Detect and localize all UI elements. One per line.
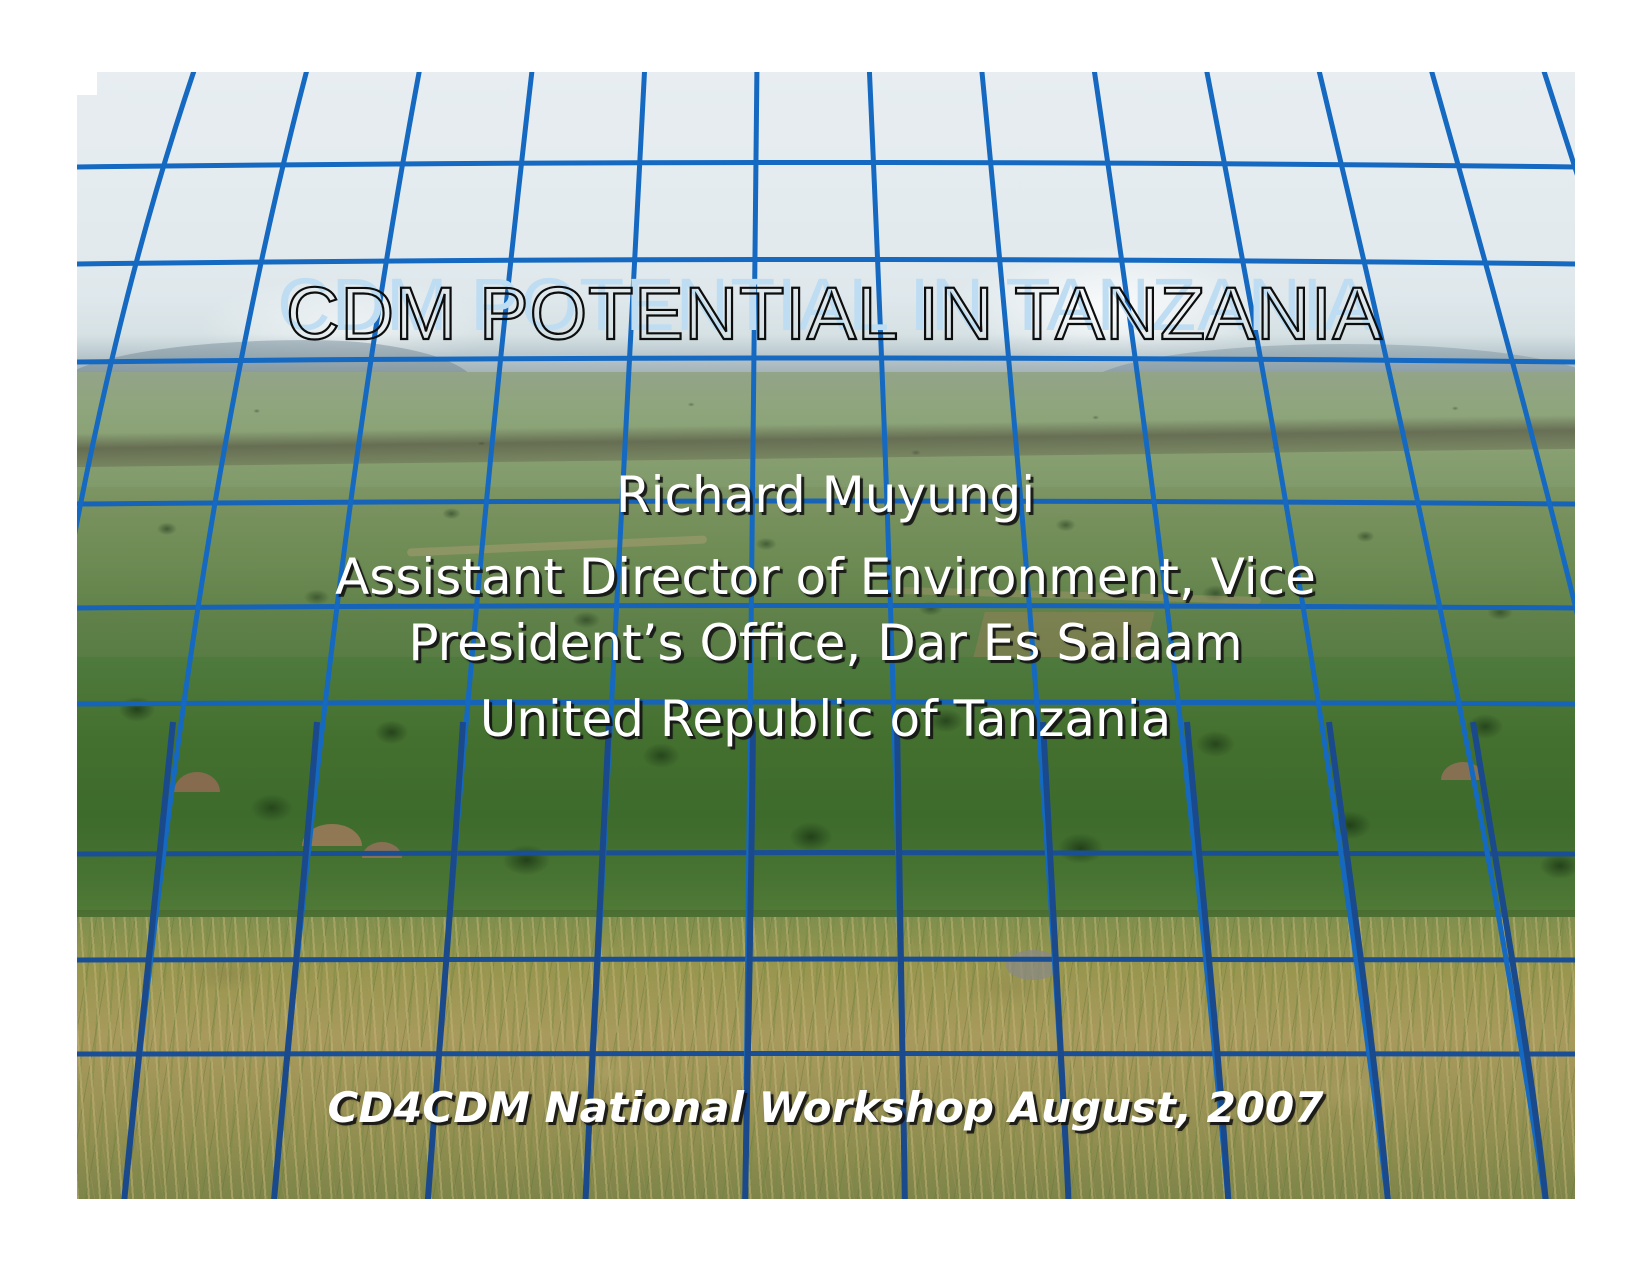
presentation-slide: CDM POTENTIAL IN TANZANIA CDM POTENTIAL …	[0, 0, 1651, 1275]
affiliation-line-1: Assistant Director of Environment, Vice	[0, 548, 1651, 606]
slide-title: CDM POTENTIAL IN TANZANIA CDM POTENTIAL …	[0, 262, 1651, 347]
slide-title-outline: CDM POTENTIAL IN TANZANIA	[9, 271, 1651, 356]
country-name: United Republic of Tanzania	[0, 690, 1651, 748]
workshop-caption: CD4CDM National Workshop August, 2007	[0, 1083, 1651, 1132]
slide-text-layer: CDM POTENTIAL IN TANZANIA CDM POTENTIAL …	[0, 0, 1651, 1275]
presenter-name: Richard Muyungi	[0, 466, 1651, 524]
affiliation-line-2: President’s Office, Dar Es Salaam	[0, 614, 1651, 672]
